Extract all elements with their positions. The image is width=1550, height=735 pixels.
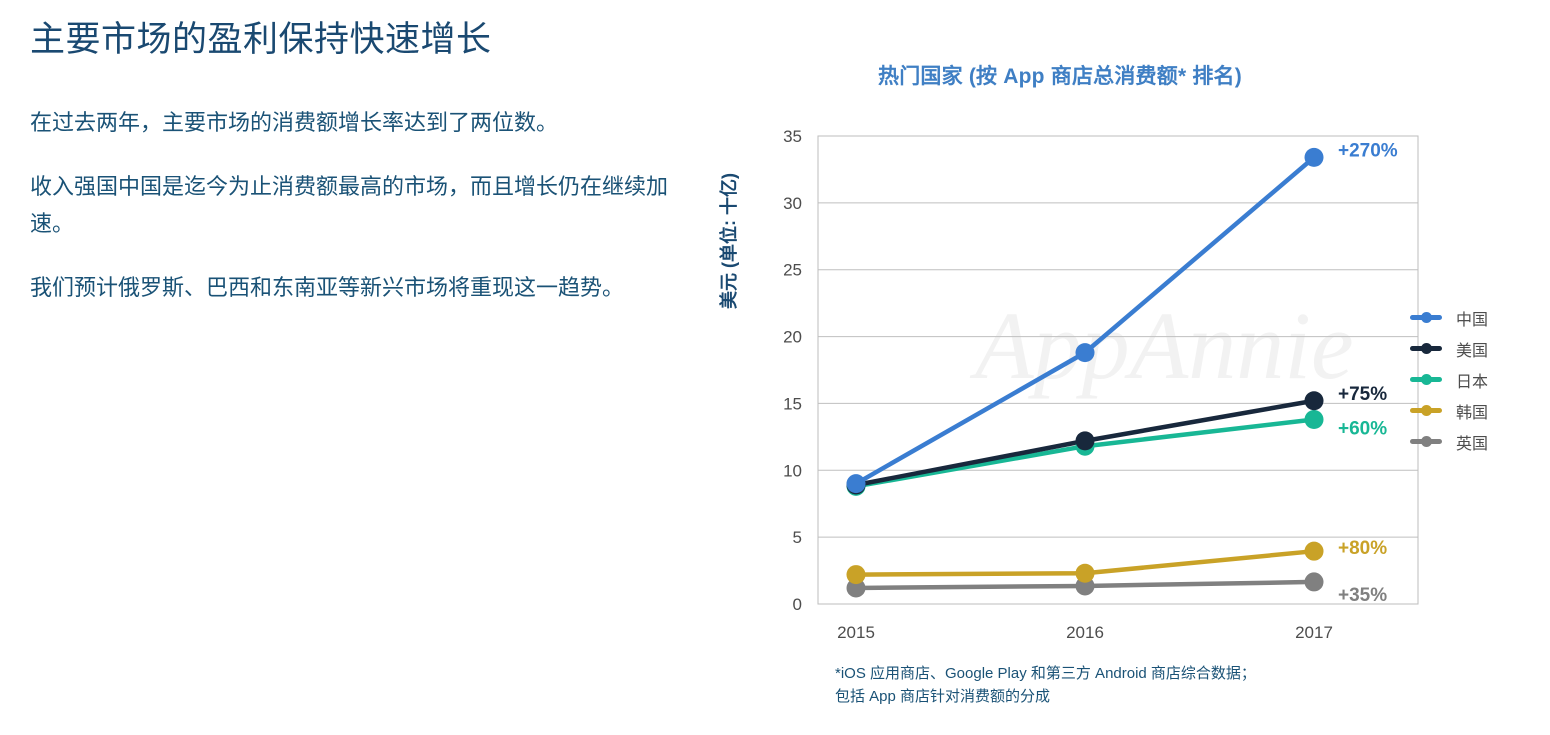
chart-panel: 热门国家 (按 App 商店总消费额* 排名) AppAnnie 美元 (单位:… — [700, 0, 1550, 735]
legend-swatch-icon — [1410, 377, 1442, 382]
gridlines — [818, 136, 1418, 604]
data-point — [1305, 410, 1324, 429]
data-point — [1305, 391, 1324, 410]
growth-label-美国: +75% — [1338, 384, 1387, 405]
legend-label: 日本 — [1456, 368, 1488, 392]
growth-label-英国: +35% — [1338, 585, 1387, 606]
legend-item-美国[interactable]: 美国 — [1410, 336, 1550, 361]
legend-item-中国[interactable]: 中国 — [1410, 305, 1550, 330]
y-tick-label: 5 — [793, 528, 802, 547]
chart-footnote: *iOS 应用商店、Google Play 和第三方 Android 商店综合数… — [835, 663, 1395, 708]
x-tick-label: 2015 — [837, 623, 875, 642]
data-point — [1305, 148, 1324, 167]
y-tick-label: 25 — [783, 261, 802, 280]
series-data-points — [847, 148, 1324, 598]
x-axis-tick-labels: 201520162017 — [837, 623, 1333, 642]
legend-item-日本[interactable]: 日本 — [1410, 367, 1550, 392]
data-point — [1305, 542, 1324, 561]
data-point — [847, 474, 866, 493]
text-panel: 主要市场的盈利保持快速增长 在过去两年，主要市场的消费额增长率达到了两位数。 收… — [30, 18, 670, 333]
chart-title: 热门国家 (按 App 商店总消费额* 排名) — [700, 60, 1420, 90]
growth-label-韩国: +80% — [1338, 538, 1387, 559]
y-tick-label: 20 — [783, 328, 802, 347]
body-paragraph-3: 我们预计俄罗斯、巴西和东南亚等新兴市场将重现这一趋势。 — [30, 269, 670, 307]
y-tick-label: 15 — [783, 394, 802, 413]
page-title: 主要市场的盈利保持快速增长 — [30, 18, 670, 62]
chart-legend: 中国美国日本韩国英国 — [1410, 305, 1550, 460]
data-point — [1076, 431, 1095, 450]
legend-label: 中国 — [1456, 306, 1488, 330]
legend-label: 英国 — [1456, 430, 1488, 454]
y-tick-label: 0 — [793, 595, 802, 614]
legend-label: 韩国 — [1456, 399, 1488, 423]
y-axis-tick-labels: 05101520253035 — [783, 127, 802, 614]
x-tick-label: 2016 — [1066, 623, 1104, 642]
data-point — [1076, 343, 1095, 362]
legend-swatch-icon — [1410, 315, 1442, 320]
footnote-line-1: *iOS 应用商店、Google Play 和第三方 Android 商店综合数… — [835, 663, 1395, 686]
data-point — [1305, 572, 1324, 591]
growth-label-日本: +60% — [1338, 418, 1387, 439]
body-paragraph-2: 收入强国中国是迄今为止消费额最高的市场，而且增长仍在继续加速。 — [30, 168, 670, 244]
legend-item-英国[interactable]: 英国 — [1410, 429, 1550, 454]
y-tick-label: 30 — [783, 194, 802, 213]
growth-label-中国: +270% — [1338, 140, 1398, 161]
footnote-line-2: 包括 App 商店针对消费额的分成 — [835, 686, 1395, 709]
series-lines — [856, 157, 1314, 588]
legend-swatch-icon — [1410, 439, 1442, 444]
y-tick-label: 35 — [783, 127, 802, 146]
x-tick-label: 2017 — [1295, 623, 1333, 642]
legend-swatch-icon — [1410, 346, 1442, 351]
legend-swatch-icon — [1410, 408, 1442, 413]
data-point — [847, 565, 866, 584]
y-tick-label: 10 — [783, 461, 802, 480]
body-paragraph-1: 在过去两年，主要市场的消费额增长率达到了两位数。 — [30, 104, 670, 142]
data-point — [1076, 564, 1095, 583]
growth-annotations: +270%+75%+60%+80%+35% — [1338, 140, 1398, 606]
legend-label: 美国 — [1456, 337, 1488, 361]
legend-item-韩国[interactable]: 韩国 — [1410, 398, 1550, 423]
